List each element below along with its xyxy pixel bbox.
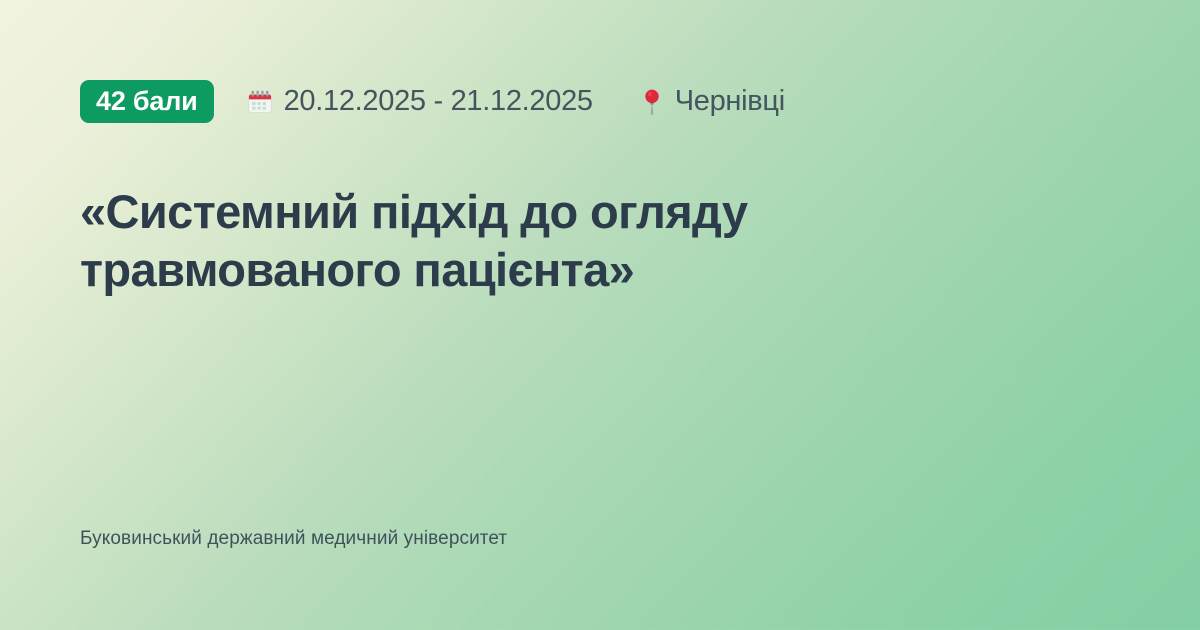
event-meta-row: 42 бали: [80, 80, 1120, 123]
points-badge: 42 бали: [80, 80, 214, 123]
event-title: «Системний підхід до огляду травмованого…: [80, 183, 980, 299]
event-announcement-card: 42 бали: [0, 0, 1200, 630]
event-location: Чернівці: [639, 85, 785, 118]
calendar-icon: [246, 88, 274, 116]
event-location-text: Чернівці: [675, 85, 785, 118]
event-dates: 20.12.2025 - 21.12.2025: [246, 85, 593, 118]
event-date-range-text: 20.12.2025 - 21.12.2025: [284, 85, 593, 118]
map-pin-icon: [639, 88, 665, 116]
organization-name: Буковинський державний медичний універси…: [80, 528, 1120, 550]
